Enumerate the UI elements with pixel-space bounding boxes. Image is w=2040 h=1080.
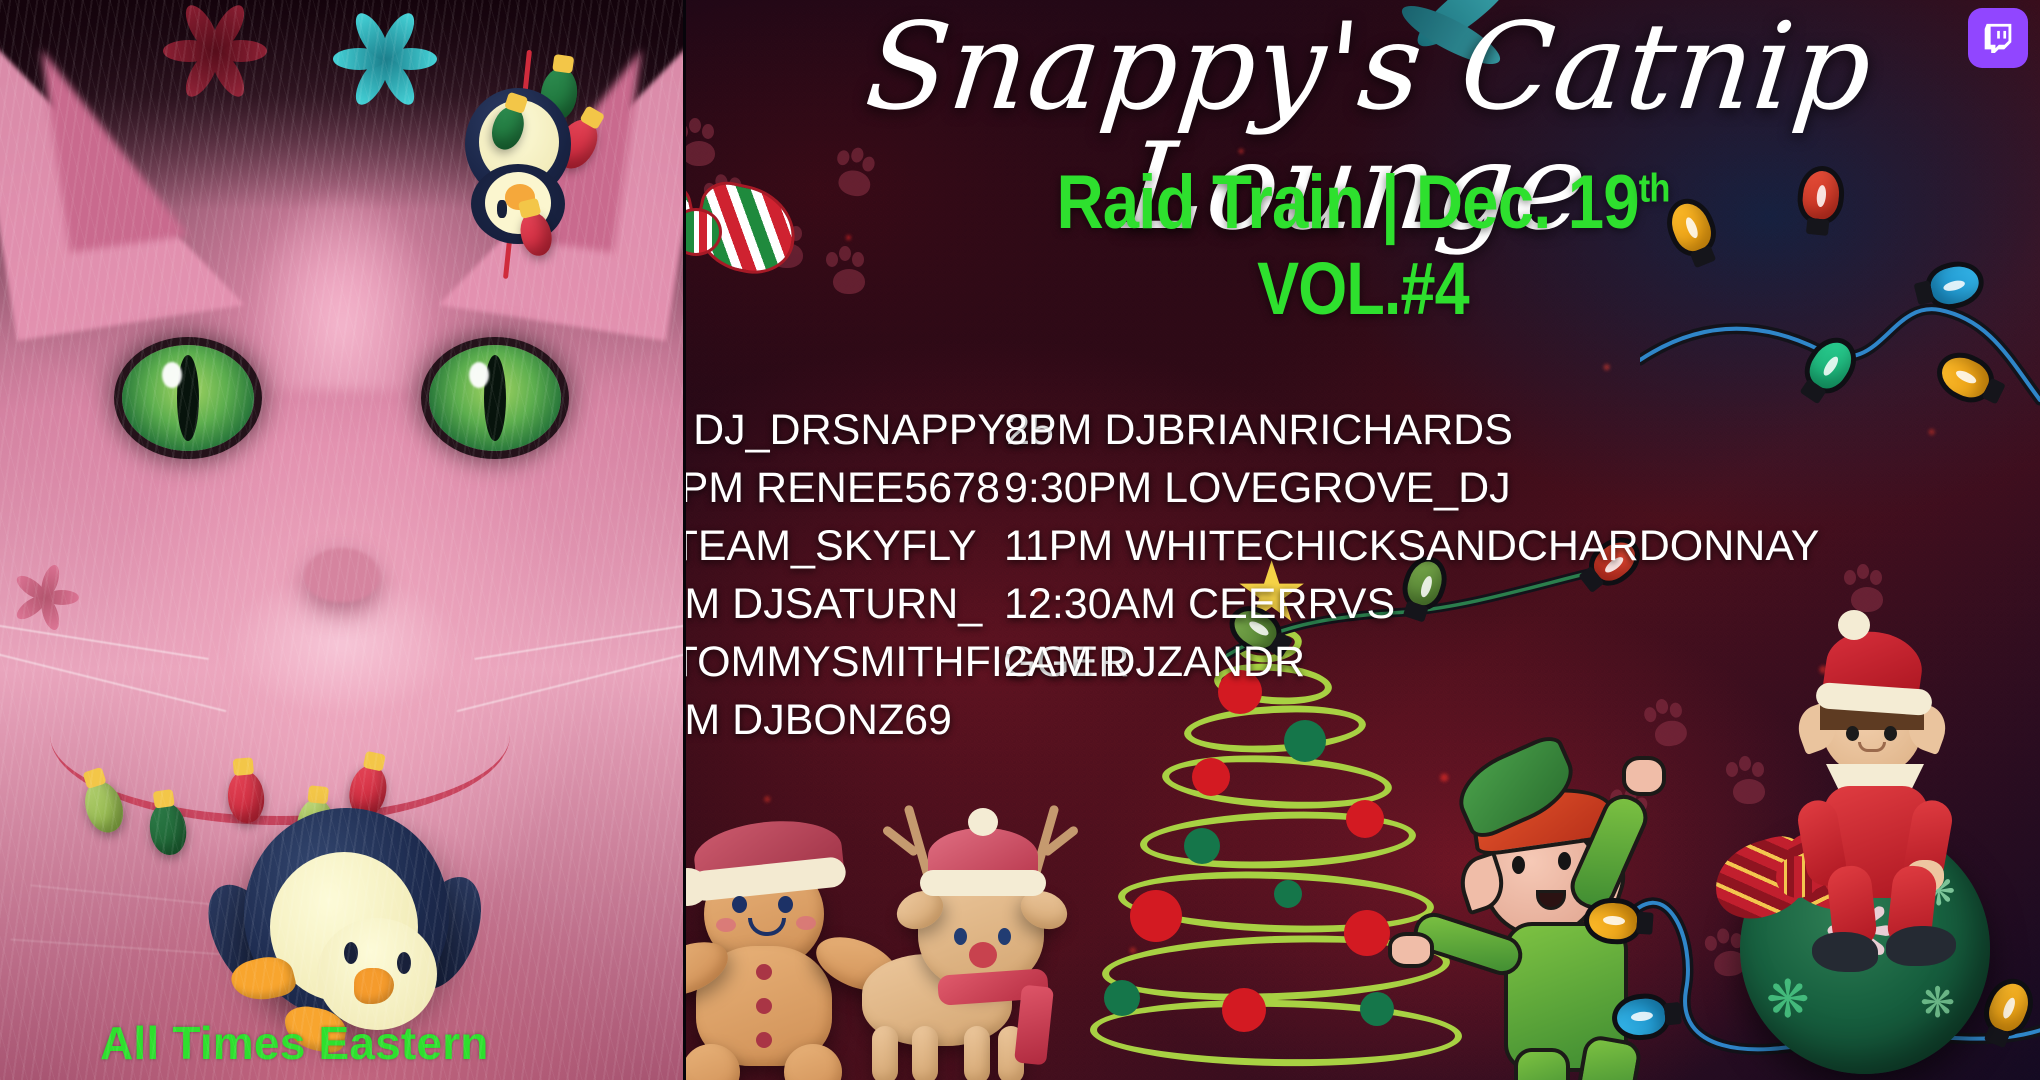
snowflake-icon: ❋	[1766, 974, 1810, 1026]
gingerbread-right-cheek	[796, 916, 816, 930]
reindeer-hat-pompom	[968, 808, 998, 836]
twitch-icon	[1981, 21, 2015, 55]
event-subtitle-text: Raid Train | Dec. 19	[1056, 160, 1638, 245]
schedule-slot: 2AM DJZANDR	[1004, 637, 1820, 687]
penguin-left-eye	[344, 942, 358, 964]
tree-ornament-red	[1346, 800, 1384, 838]
reindeer-left-eye	[954, 928, 967, 945]
snowflake-icon: ❋	[1920, 982, 1955, 1024]
tree-ornament-red	[1222, 988, 1266, 1032]
schedule-panel: Snappy's Catnip Lounge Raid Train | Dec.…	[686, 0, 2040, 1080]
reindeer-right-eye	[998, 928, 1011, 945]
shelf-elf-left-eye	[1846, 726, 1859, 741]
elf-right-eye	[1558, 852, 1571, 870]
reindeer-icon	[856, 776, 1106, 1080]
schedule-slot: 9:30PM LOVEGROVE_DJ	[1004, 463, 1820, 513]
shelf-elf-right-shoe	[1886, 926, 1956, 966]
schedule-slot: 11PM WHITECHICKSANDCHARDONNAY	[1004, 521, 1820, 571]
elf-left-eye	[1512, 856, 1525, 874]
teal-flower-icon	[330, 2, 440, 94]
elf-right-hand	[1622, 756, 1666, 796]
penguin-right-eye	[397, 952, 411, 974]
tree-ornament-green	[1184, 828, 1220, 864]
reindeer-leg	[872, 1026, 898, 1080]
twitch-logo-badge[interactable]	[1968, 8, 2028, 68]
gingerbread-left-cheek	[716, 918, 736, 932]
cat-left-eye	[122, 345, 254, 451]
tree-ornament-green	[1284, 720, 1326, 762]
elf-left-leg	[1514, 1048, 1570, 1080]
gingerbread-button	[756, 998, 772, 1014]
shelf-elf-left-shoe	[1812, 932, 1878, 972]
penguin-figure	[222, 790, 472, 1040]
timezone-note: All Times Eastern	[100, 1016, 489, 1070]
reindeer-hat-brim	[920, 870, 1046, 896]
cat-forehead-fur	[192, 70, 492, 390]
gingerbread-right-eye	[778, 896, 793, 913]
event-subtitle-ordinal: th	[1639, 167, 1670, 211]
tree-ornament-red	[1130, 890, 1182, 942]
reindeer-scarf-tail	[1014, 985, 1054, 1066]
schedule-column-right: 8PM DJBRIANRICHARDS 9:30PM LOVEGROVE_DJ …	[1004, 405, 1820, 695]
event-volume: VOL.#4	[788, 252, 1939, 326]
cat-nose	[305, 548, 379, 602]
reindeer-nose	[969, 942, 997, 968]
hanging-penguin-figure	[455, 60, 585, 250]
cat-right-eye-glint	[469, 362, 489, 388]
tree-ornament-red	[1344, 910, 1390, 956]
schedule-slot: 8PM DJBRIANRICHARDS	[1004, 405, 1820, 455]
tree-ornament-red	[1192, 758, 1230, 796]
reindeer-leg	[912, 1026, 938, 1080]
schedule-slot: 12:30AM CEERRVS	[1004, 579, 1820, 629]
red-flower-icon	[160, 0, 270, 86]
shelf-elf-hat-pompom	[1838, 610, 1870, 640]
event-subtitle: Raid Train | Dec. 19th	[781, 165, 1945, 241]
paw-print-icon	[1844, 566, 1890, 612]
tree-ornament-green	[1104, 980, 1140, 1016]
shelf-elf-right-eye	[1884, 726, 1897, 741]
reindeer-leg	[964, 1026, 990, 1080]
tree-ornament-green	[1274, 880, 1302, 908]
gingerbread-left-eye	[732, 896, 747, 913]
cat-left-eye-glint	[162, 362, 182, 388]
small-flower-icon	[10, 560, 80, 620]
schedule-slot: 6:30PM DJBONZ69	[686, 695, 1129, 745]
gingerbread-button	[756, 1032, 772, 1048]
cat-right-eye	[429, 345, 561, 451]
raid-train-graphic: All Times Eastern	[0, 0, 2040, 1080]
elf-left-hand	[1388, 932, 1434, 968]
gingerbread-button	[756, 964, 772, 980]
